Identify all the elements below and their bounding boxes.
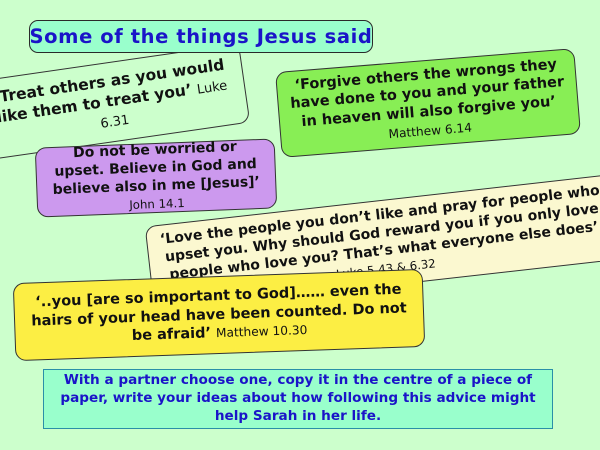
- quote-card-body: Do not be worried or upset. Believe in G…: [46, 138, 267, 218]
- slide-title-banner: Some of the things Jesus said: [29, 20, 373, 53]
- quote-reference: John 14.1: [129, 196, 185, 212]
- page-title: Some of the things Jesus said: [30, 25, 373, 48]
- quote-card-hairs-counted[interactable]: ‘..you [are so important to God]…… even …: [13, 269, 425, 361]
- quote-card-body: ‘Forgive others the wrongs they have don…: [286, 55, 569, 151]
- task-instruction-box: With a partner choose one, copy it in th…: [43, 369, 553, 429]
- quote-text: Do not be worried or upset. Believe in G…: [52, 139, 260, 198]
- quote-card-body: ‘..you [are so important to God]…… even …: [24, 280, 414, 349]
- quote-reference: Matthew 10.30: [216, 323, 308, 340]
- quote-reference: Matthew 6.14: [388, 120, 472, 141]
- quote-card-body: ‘Treat others as you would like them to …: [0, 55, 238, 149]
- quote-card-forgive-others[interactable]: ‘Forgive others the wrongs they have don…: [275, 48, 581, 158]
- task-instruction-text: With a partner choose one, copy it in th…: [52, 372, 544, 426]
- slide-canvas: Some of the things Jesus said ‘Treat oth…: [0, 0, 600, 450]
- quote-text: ‘Forgive others the wrongs they have don…: [290, 56, 565, 130]
- quote-card-do-not-be-worried[interactable]: Do not be worried or upset. Believe in G…: [35, 138, 278, 217]
